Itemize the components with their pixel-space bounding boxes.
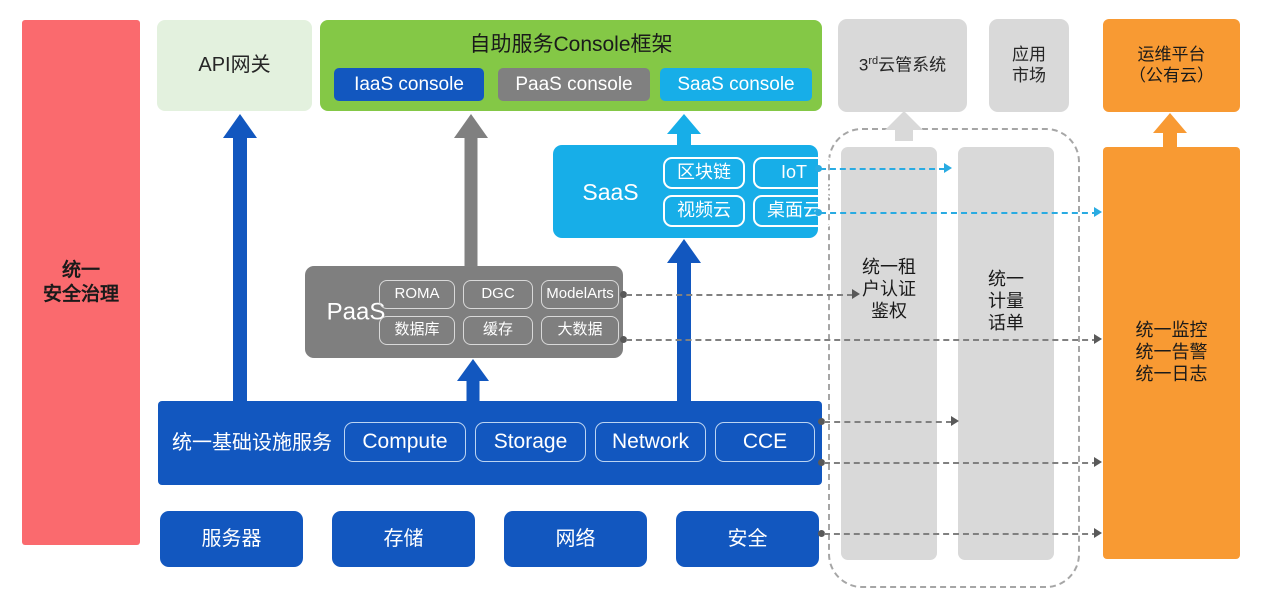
hardware-box-server: 服务器 xyxy=(160,511,303,567)
connector-arrowhead-paas-to-metering xyxy=(1094,334,1102,344)
connector-line-paas-to-auth xyxy=(626,294,853,296)
app-market-line1: 应用 xyxy=(1012,45,1046,66)
paas-console-label: PaaS console xyxy=(515,73,632,96)
saas-service-video-cloud[interactable]: 视频云 xyxy=(663,195,745,227)
connector-line-saas-to-auth xyxy=(820,168,945,170)
unified-ops-panel: 统一监控 统一告警 统一日志 xyxy=(1103,147,1240,559)
saas-service-blockchain[interactable]: 区块链 xyxy=(663,157,745,189)
paas-service-roma[interactable]: ROMA xyxy=(379,280,455,309)
connector-line-infra-to-auth xyxy=(824,421,952,423)
ops-platform-line2: （公有云） xyxy=(1129,66,1214,87)
hardware-label-network: 网络 xyxy=(556,527,596,551)
unified-auth-column: 统一租 户认证 鉴权 xyxy=(841,147,937,560)
connector-arrowhead-hardware-to-metering xyxy=(1094,528,1102,538)
infra-service-cce[interactable]: CCE xyxy=(715,422,815,462)
hardware-label-security: 安全 xyxy=(728,527,768,551)
paas-service-modelarts[interactable]: ModelArts xyxy=(541,280,619,309)
paas-service-database[interactable]: 数据库 xyxy=(379,316,455,345)
saas-service-blockchain-label: 区块链 xyxy=(677,162,731,184)
paas-service-database-label: 数据库 xyxy=(394,321,439,339)
infrastructure-bar: 统一基础设施服务 Compute Storage Network CCE xyxy=(158,401,822,485)
hardware-box-network: 网络 xyxy=(504,511,647,567)
paas-service-roma-label: ROMA xyxy=(395,285,440,303)
security-governance-line1: 统一 xyxy=(43,259,119,282)
hardware-label-server: 服务器 xyxy=(202,527,262,551)
connector-line-saas-to-ops xyxy=(820,212,1098,214)
connector-arrowhead-infra-to-auth xyxy=(951,416,959,426)
arrow-infra-to-paas xyxy=(456,359,490,402)
arrow-infra-to-saas xyxy=(667,239,701,402)
saas-console-chip[interactable]: SaaS console xyxy=(660,68,812,101)
connector-line-infra-to-ops xyxy=(824,462,1098,464)
unified-metering-text: 统一 计量 话单 xyxy=(958,269,1054,335)
paas-console-chip[interactable]: PaaS console xyxy=(498,68,650,101)
ops-platform-box: 运维平台 （公有云） xyxy=(1103,19,1240,112)
connector-line-paas-to-metering xyxy=(626,339,1098,341)
arrow-shared-to-third-party xyxy=(885,111,923,141)
security-governance-line2: 安全治理 xyxy=(43,283,119,306)
infrastructure-label: 统一基础设施服务 xyxy=(172,431,332,455)
infra-service-compute[interactable]: Compute xyxy=(344,422,466,462)
saas-service-desktop-cloud-label: 桌面云 xyxy=(767,200,821,222)
app-market-line2: 市场 xyxy=(1012,66,1046,87)
ops-platform-line1: 运维平台 xyxy=(1129,45,1214,66)
saas-label: SaaS xyxy=(563,177,658,205)
saas-service-video-cloud-label: 视频云 xyxy=(677,200,731,222)
paas-service-bigdata-label: 大数据 xyxy=(557,321,602,339)
saas-service-desktop-cloud[interactable]: 桌面云 xyxy=(753,195,835,227)
app-market-box: 应用 市场 xyxy=(989,19,1069,112)
console-frame-title: 自助服务Console框架 xyxy=(320,32,822,58)
iaas-console-label: IaaS console xyxy=(354,73,464,96)
api-gateway-box: API网关 xyxy=(157,20,312,111)
paas-service-modelarts-label: ModelArts xyxy=(546,285,614,303)
paas-service-bigdata[interactable]: 大数据 xyxy=(541,316,619,345)
connector-arrowhead-paas-to-auth xyxy=(852,289,860,299)
hardware-box-storage: 存储 xyxy=(332,511,475,567)
console-frame-box: 自助服务Console框架 IaaS console PaaS console … xyxy=(320,20,822,111)
infra-service-storage[interactable]: Storage xyxy=(475,422,586,462)
unified-ops-line1: 统一监控 xyxy=(1136,320,1208,342)
infra-service-network[interactable]: Network xyxy=(595,422,706,462)
hardware-label-storage: 存储 xyxy=(384,527,424,551)
connector-line-hardware-to-metering xyxy=(824,533,1098,535)
arrow-saas-to-console xyxy=(667,114,701,147)
unified-ops-line3: 统一日志 xyxy=(1136,364,1208,386)
arrow-ops-panel-to-ops-platform xyxy=(1153,113,1187,147)
paas-service-cache-label: 缓存 xyxy=(483,321,513,339)
paas-service-cache[interactable]: 缓存 xyxy=(463,316,533,345)
arrow-paas-to-console xyxy=(454,114,488,267)
unified-ops-line2: 统一告警 xyxy=(1136,342,1208,364)
saas-service-iot[interactable]: IoT xyxy=(753,157,835,189)
saas-console-label: SaaS console xyxy=(677,73,794,96)
infra-service-network-label: Network xyxy=(612,429,689,455)
paas-service-dgc-label: DGC xyxy=(481,285,514,303)
api-gateway-label: API网关 xyxy=(198,53,270,77)
third-party-cloud-mgmt-label: 3rd云管系统 xyxy=(859,55,946,76)
third-party-cloud-mgmt-box: 3rd云管系统 xyxy=(838,19,967,112)
hardware-box-security: 安全 xyxy=(676,511,819,567)
saas-service-iot-label: IoT xyxy=(781,162,807,184)
iaas-console-chip[interactable]: IaaS console xyxy=(334,68,484,101)
paas-service-dgc[interactable]: DGC xyxy=(463,280,533,309)
unified-metering-column: 统一 计量 话单 xyxy=(958,147,1054,560)
security-governance-panel: 统一 安全治理 xyxy=(22,20,140,545)
connector-arrowhead-saas-to-auth xyxy=(944,163,952,173)
architecture-diagram: 统一 安全治理 API网关 自助服务Console框架 IaaS console… xyxy=(0,0,1265,605)
infra-service-compute-label: Compute xyxy=(362,429,447,455)
saas-block: SaaS 区块链 IoT 视频云 桌面云 xyxy=(553,145,818,238)
infra-service-storage-label: Storage xyxy=(494,429,568,455)
connector-arrowhead-saas-to-ops xyxy=(1094,207,1102,217)
arrow-infra-to-api-gateway xyxy=(223,114,257,402)
infra-service-cce-label: CCE xyxy=(743,429,787,455)
connector-arrowhead-infra-to-ops xyxy=(1094,457,1102,467)
paas-block: PaaS ROMA DGC ModelArts 数据库 缓存 大数据 xyxy=(305,266,623,358)
